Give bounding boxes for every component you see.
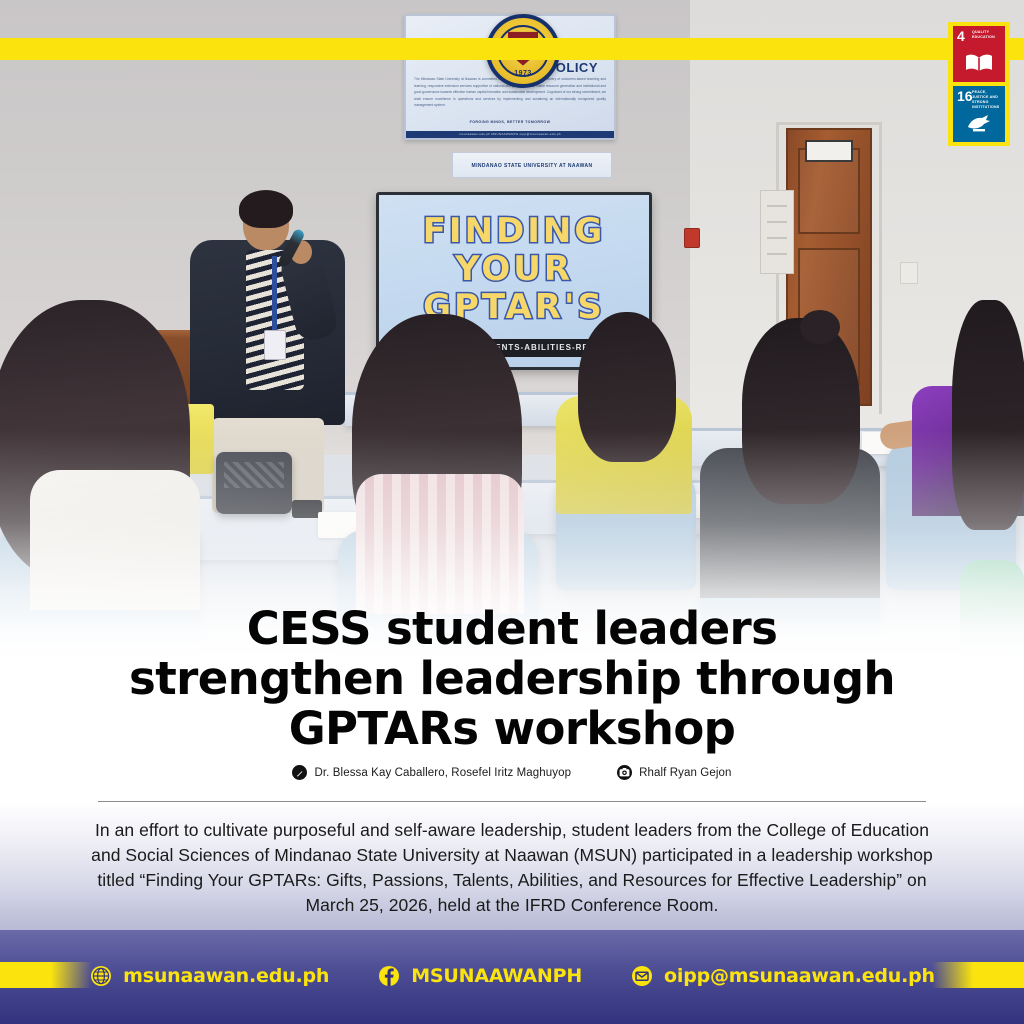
seal-year: 1973 — [490, 70, 556, 77]
byline-photographer-label: Rhalf Ryan Gejon — [639, 767, 731, 779]
pen-icon — [292, 765, 307, 780]
door-sign — [805, 140, 853, 162]
facebook-icon — [377, 964, 401, 988]
wall-outlet — [900, 262, 918, 284]
footer-facebook-label: MSUNAAWANPH — [411, 965, 582, 987]
sdg-16-title: PEACE, JUSTICE AND STRONG INSTITUTIONS — [972, 90, 1002, 109]
wall-sign: MINDANAO STATE UNIVERSITY AT NAAWAN — [452, 152, 612, 178]
top-accent-bar — [0, 38, 1024, 60]
wall-sign-label: MINDANAO STATE UNIVERSITY AT NAAWAN — [453, 153, 611, 179]
speaker-hair — [239, 190, 293, 228]
sdg-4-title: QUALITY EDUCATION — [972, 30, 1002, 40]
policy-board-contact-bar: msunaawan.edu.ph MSUNAAWANPH oipp@msunaa… — [406, 131, 614, 138]
speaker-lanyard — [272, 256, 277, 334]
footer-facebook[interactable]: MSUNAAWANPH — [377, 964, 582, 988]
sdg-4-number: 4 — [957, 29, 965, 43]
dove-gavel-icon — [953, 113, 1005, 138]
footer-website[interactable]: msunaawan.edu.ph — [89, 964, 329, 988]
byline-photographer: Rhalf Ryan Gejon — [617, 765, 731, 780]
headline-line-2: strengthen leadership through — [0, 654, 1024, 704]
page-title: CESS student leaders strengthen leadersh… — [0, 604, 1024, 754]
policy-board-footer: FORGING MINDS, BETTER TOMORROW — [406, 120, 614, 124]
footer-email[interactable]: oipp@msunaawan.edu.ph — [630, 964, 935, 988]
byline: Dr. Blessa Kay Caballero, Rosefel Iritz … — [0, 765, 1024, 780]
fire-alarm-icon — [684, 228, 700, 248]
audience-right-hair-bun — [800, 310, 840, 344]
news-poster: MINDANAO STATE UNIVERSITY AT NAAWAN QUAL… — [0, 0, 1024, 1024]
sdg-badge-16: 16 PEACE, JUSTICE AND STRONG INSTITUTION… — [953, 86, 1005, 142]
footer-contacts: msunaawan.edu.ph MSUNAAWANPH oipp@msunaa… — [0, 958, 1024, 994]
wall-plate — [760, 190, 794, 274]
byline-writer-label: Dr. Blessa Kay Caballero, Rosefel Iritz … — [314, 767, 571, 779]
envelope-icon — [630, 964, 654, 988]
byline-writer: Dr. Blessa Kay Caballero, Rosefel Iritz … — [292, 765, 571, 780]
slide-line-2: YOUR — [379, 249, 649, 289]
speaker-id-badge — [264, 330, 286, 360]
article-body: In an effort to cultivate purposeful and… — [80, 818, 944, 917]
sdg-badges: 4 QUALITY EDUCATION 16 PEACE, JUSTICE AN… — [948, 22, 1010, 146]
headline-line-1: CESS student leaders — [0, 604, 1024, 654]
footer-website-label: msunaawan.edu.ph — [123, 965, 329, 987]
camera-icon — [617, 765, 632, 780]
open-book-icon — [953, 53, 1005, 78]
footer-email-label: oipp@msunaawan.edu.ph — [664, 965, 935, 987]
slide-line-1: FINDING — [379, 211, 649, 251]
sdg-badge-4: 4 QUALITY EDUCATION — [953, 26, 1005, 82]
sdg-16-number: 16 — [957, 89, 973, 103]
globe-icon — [89, 964, 113, 988]
headline-line-3: GPTARs workshop — [0, 704, 1024, 754]
event-photo: MINDANAO STATE UNIVERSITY AT NAAWAN QUAL… — [0, 0, 1024, 660]
